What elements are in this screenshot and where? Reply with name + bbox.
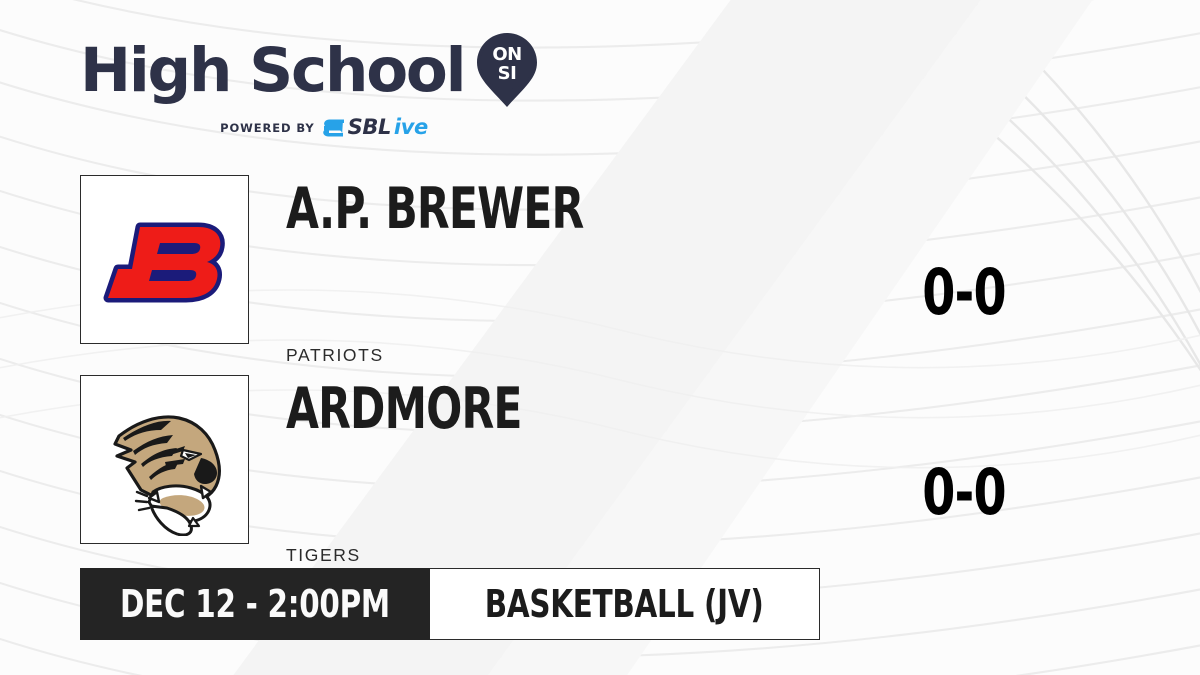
brand-header: High School ON SI POWERED BY SBLive [80, 32, 510, 138]
svg-text:SI: SI [498, 63, 517, 84]
sblive-logo: SBLive [322, 117, 428, 138]
powered-by-label: POWERED BY [220, 121, 314, 135]
team-logo-brewer [80, 175, 249, 344]
sblive-name-dark: SBL [348, 117, 391, 138]
game-sport-panel: BASKETBALL (JV) [430, 568, 820, 640]
score-home: 0-0 [888, 261, 1039, 324]
team-mascot-away: TIGERS [286, 545, 926, 566]
sblive-name-blue: ive [394, 117, 428, 138]
game-sport-label: BASKETBALL (JV) [485, 582, 764, 626]
game-datetime-panel: DEC 12 - 2:00PM [80, 568, 430, 640]
ardmore-tiger-logo-icon [89, 384, 241, 536]
score-away: 0-0 [888, 461, 1039, 524]
team-name-home: A.P. BREWER [286, 181, 817, 238]
game-info-banner: DEC 12 - 2:00PM BASKETBALL (JV) [80, 568, 820, 640]
brewer-b-logo-icon [90, 185, 240, 335]
team-logo-ardmore [80, 375, 249, 544]
onsi-pin-icon: ON SI [476, 32, 538, 108]
team-mascot-home: PATRIOTS [286, 345, 926, 366]
site-wordmark: High School [80, 40, 464, 101]
team-name-away: ARDMORE [286, 381, 817, 438]
game-datetime-label: DEC 12 - 2:00PM [120, 582, 390, 626]
sblive-s-mark [322, 118, 345, 138]
svg-text:ON: ON [493, 44, 522, 65]
